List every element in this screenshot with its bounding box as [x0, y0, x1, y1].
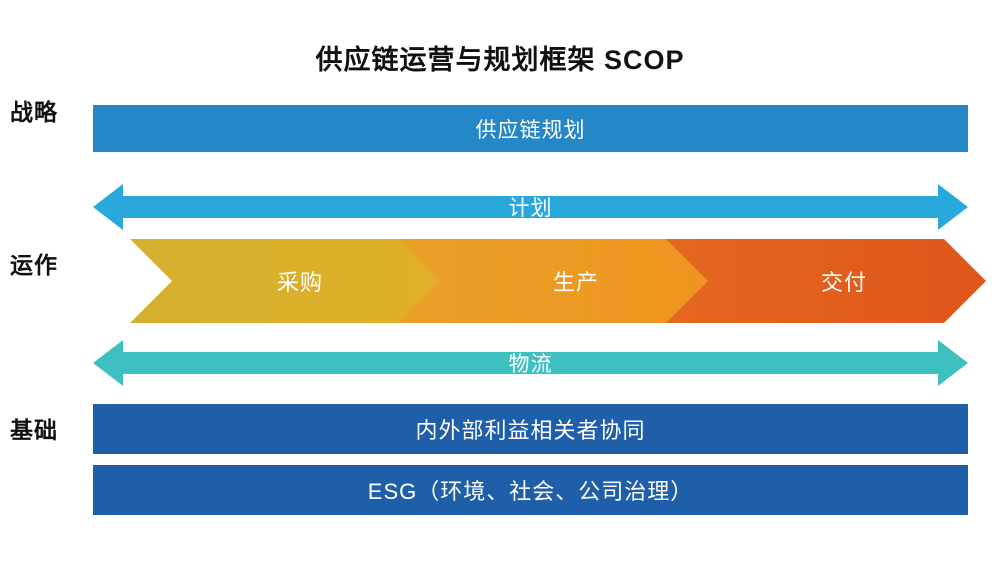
row-label-foundation: 基础: [6, 418, 62, 444]
arrow-logistics: 物流: [93, 336, 968, 390]
bar-esg: ESG（环境、社会、公司治理）: [93, 465, 968, 515]
arrow-plan: 计划: [93, 180, 968, 234]
process-step-deliver-shape: [666, 239, 986, 323]
page-title: 供应链运营与规划框架 SCOP: [0, 38, 1000, 77]
diagram-canvas: 供应链运营与规划框架 SCOP 战略 运作 基础 供应链规划 计划 采购: [0, 0, 1000, 562]
bar-supply-chain-planning: 供应链规划: [93, 105, 968, 152]
arrow-plan-shape: [93, 180, 968, 234]
row-label-operations: 运作: [6, 253, 62, 279]
arrow-logistics-shape: [93, 336, 968, 390]
row-label-strategy: 战略: [6, 100, 62, 126]
process-step-deliver: 交付: [666, 239, 986, 323]
bar-stakeholder-collaboration: 内外部利益相关者协同: [93, 404, 968, 454]
